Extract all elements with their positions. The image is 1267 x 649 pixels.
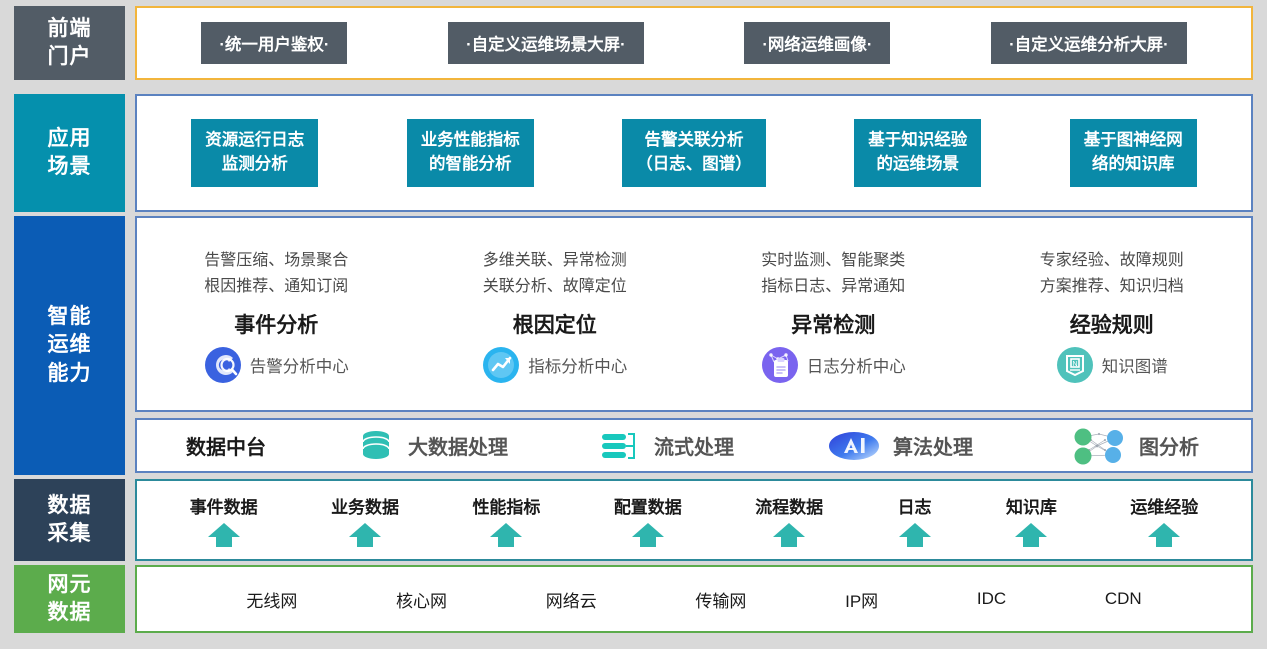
side-label-intelligent-ops: 智能 运维 能力 — [14, 216, 125, 475]
front-portal-panel: ·统一用户鉴权· ·自定义运维场景大屏· ·网络运维画像· ·自定义运维分析大屏… — [135, 6, 1253, 80]
capability-bullet: 关联分析、故障定位 — [483, 274, 627, 300]
data-midplatform-panel: 数据中台 大数据处理 — [135, 418, 1253, 473]
side-label-line: 采集 — [48, 520, 92, 548]
application-chip-line: 的运维场景 — [868, 153, 967, 177]
knowledge-doc-icon: N — [1056, 346, 1094, 384]
up-arrow-icon — [1146, 522, 1182, 548]
collection-item[interactable]: 流程数据 — [755, 493, 823, 548]
application-chip-line: （日志、图谱） — [636, 153, 752, 177]
data-midplatform-label: 图分析 — [1139, 431, 1199, 460]
analysis-center-label: 日志分析中心 — [807, 353, 906, 377]
portal-chip[interactable]: ·自定义运维场景大屏· — [448, 22, 644, 64]
application-chip-line: 基于知识经验 — [868, 129, 967, 153]
collection-label: 日志 — [898, 493, 932, 518]
network-element-item[interactable]: IDC — [977, 589, 1006, 609]
row-front-portal: 前端 门户 ·统一用户鉴权· ·自定义运维场景大屏· ·网络运维画像· ·自定义… — [14, 6, 1253, 80]
application-chip[interactable]: 基于图神经网 络的知识库 — [1070, 119, 1197, 187]
intelligent-ops-stack: 告警压缩、场景聚合 根因推荐、通知订阅 事件分析 — [135, 216, 1253, 475]
application-chip-line: 基于图神经网 — [1084, 129, 1183, 153]
capability-title: 事件分析 — [234, 309, 318, 339]
capability-column-root-cause: 多维关联、异常检测 关联分析、故障定位 根因定位 — [416, 218, 695, 410]
application-chip-line: 络的知识库 — [1084, 153, 1183, 177]
side-label-application-scenarios: 应用 场景 — [14, 94, 125, 212]
capability-bullet: 专家经验、故障规则 — [1040, 248, 1184, 274]
side-label-front-portal: 前端 门户 — [14, 6, 125, 80]
up-arrow-icon — [771, 522, 807, 548]
side-label-line: 运维 — [48, 331, 92, 359]
portal-chip[interactable]: ·网络运维画像· — [744, 22, 890, 64]
data-midplatform-label: 流式处理 — [654, 431, 734, 460]
collection-item[interactable]: 知识库 — [1006, 493, 1057, 548]
analysis-center-link[interactable]: N 知识图谱 — [1056, 346, 1168, 384]
collection-label: 业务数据 — [331, 493, 399, 518]
portal-chip[interactable]: ·自定义运维分析大屏· — [991, 22, 1187, 64]
data-midplatform-label: 大数据处理 — [408, 431, 508, 460]
capability-title: 根因定位 — [513, 309, 597, 339]
side-label-line: 能力 — [48, 360, 92, 388]
up-arrow-icon — [897, 522, 933, 548]
analysis-center-link[interactable]: 告警分析中心 — [204, 346, 349, 384]
application-scenarios-panel: 资源运行日志 监测分析 业务性能指标 的智能分析 告警关联分析 （日志、图谱） … — [135, 94, 1253, 212]
collection-item[interactable]: 配置数据 — [614, 493, 682, 548]
capability-bullet: 告警压缩、场景聚合 — [204, 248, 348, 274]
application-chip[interactable]: 基于知识经验 的运维场景 — [854, 119, 981, 187]
network-element-item[interactable]: CDN — [1105, 589, 1142, 609]
application-chip-line: 监测分析 — [205, 153, 304, 177]
collection-label: 知识库 — [1006, 493, 1057, 518]
log-clipboard-icon — [761, 346, 799, 384]
network-element-item[interactable]: 无线网 — [246, 587, 297, 612]
data-midplatform-item-stream[interactable]: 流式处理 — [549, 429, 783, 463]
analysis-center-link[interactable]: 日志分析中心 — [761, 346, 906, 384]
collection-label: 性能指标 — [472, 493, 540, 518]
alert-search-icon — [204, 346, 242, 384]
capability-panel: 告警压缩、场景聚合 根因推荐、通知订阅 事件分析 — [135, 216, 1253, 412]
stream-stack-icon — [598, 429, 642, 463]
network-element-item[interactable]: 网络云 — [546, 587, 597, 612]
side-label-network-element: 网元 数据 — [14, 565, 125, 633]
up-arrow-icon — [347, 522, 383, 548]
network-element-item[interactable]: 传输网 — [695, 587, 746, 612]
analysis-center-label: 知识图谱 — [1102, 353, 1168, 377]
row-application-scenarios: 应用 场景 资源运行日志 监测分析 业务性能指标 的智能分析 告警关联分析 （日… — [14, 94, 1253, 212]
collection-label: 配置数据 — [614, 493, 682, 518]
capability-title: 异常检测 — [791, 309, 875, 339]
application-chip-line: 业务性能指标 — [421, 129, 520, 153]
architecture-diagram: 前端 门户 ·统一用户鉴权· ·自定义运维场景大屏· ·网络运维画像· ·自定义… — [0, 0, 1267, 649]
metric-trend-icon — [482, 346, 520, 384]
up-arrow-icon — [488, 522, 524, 548]
analysis-center-label: 告警分析中心 — [250, 353, 349, 377]
application-chip-line: 告警关联分析 — [636, 129, 752, 153]
capability-column-experience-rules: 专家经验、故障规则 方案推荐、知识归档 经验规则 N — [973, 218, 1252, 410]
data-collection-panel: 事件数据 业务数据 性能指标 配置数据 流程数据 日志 — [135, 479, 1253, 561]
up-arrow-icon — [630, 522, 666, 548]
svg-text:N: N — [1072, 360, 1077, 367]
capability-bullet: 指标日志、异常通知 — [761, 274, 905, 300]
side-label-line: 门户 — [48, 43, 92, 71]
capability-column-anomaly-detection: 实时监测、智能聚类 指标日志、异常通知 异常检测 — [694, 218, 973, 410]
network-element-item[interactable]: IP网 — [845, 587, 878, 612]
collection-item[interactable]: 性能指标 — [472, 493, 540, 548]
up-arrow-icon — [206, 522, 242, 548]
side-label-line: 应用 — [48, 125, 92, 153]
side-label-line: 网元 — [48, 571, 92, 599]
analysis-center-link[interactable]: 指标分析中心 — [482, 346, 627, 384]
analysis-center-label: 指标分析中心 — [528, 353, 627, 377]
side-label-data-collection: 数据 采集 — [14, 479, 125, 561]
capability-bullet: 实时监测、智能聚类 — [761, 248, 905, 274]
collection-item[interactable]: 业务数据 — [331, 493, 399, 548]
collection-label: 运维经验 — [1130, 493, 1198, 518]
row-data-collection: 数据 采集 事件数据 业务数据 性能指标 配置数据 流程数据 — [14, 479, 1253, 561]
side-label-line: 前端 — [48, 15, 92, 43]
database-icon — [356, 429, 396, 463]
data-midplatform-label: 算法处理 — [893, 431, 973, 460]
up-arrow-icon — [1013, 522, 1049, 548]
side-label-line: 数据 — [48, 492, 92, 520]
application-chip-line: 资源运行日志 — [205, 129, 304, 153]
side-label-line: 智能 — [48, 303, 92, 331]
application-chip[interactable]: 业务性能指标 的智能分析 — [407, 119, 534, 187]
capability-bullet: 方案推荐、知识归档 — [1040, 274, 1184, 300]
portal-chip[interactable]: ·统一用户鉴权· — [201, 22, 347, 64]
graph-network-icon — [1069, 426, 1127, 466]
capability-bullet: 根因推荐、通知订阅 — [204, 274, 348, 300]
application-chip[interactable]: 资源运行日志 监测分析 — [191, 119, 318, 187]
capability-bullets: 实时监测、智能聚类 指标日志、异常通知 — [761, 248, 905, 299]
application-chip-line: 的智能分析 — [421, 153, 520, 177]
collection-item[interactable]: 运维经验 — [1130, 493, 1198, 548]
collection-label: 事件数据 — [190, 493, 258, 518]
capability-bullets: 专家经验、故障规则 方案推荐、知识归档 — [1040, 248, 1184, 299]
side-label-line: 场景 — [48, 153, 92, 181]
capability-bullet: 多维关联、异常检测 — [483, 248, 627, 274]
data-midplatform-item-algorithm[interactable]: 算法处理 — [783, 429, 1017, 463]
collection-label: 流程数据 — [755, 493, 823, 518]
data-midplatform-item-graph[interactable]: 图分析 — [1017, 426, 1251, 466]
capability-title: 经验规则 — [1070, 309, 1154, 339]
capability-column-event-analysis: 告警压缩、场景聚合 根因推荐、通知订阅 事件分析 — [137, 218, 416, 410]
capability-bullets: 告警压缩、场景聚合 根因推荐、通知订阅 — [204, 248, 348, 299]
collection-item[interactable]: 事件数据 — [190, 493, 258, 548]
data-midplatform-item-bigdata[interactable]: 大数据处理 — [315, 429, 549, 463]
row-intelligent-ops-capability: 智能 运维 能力 告警压缩、场景聚合 根因推荐、通知订阅 事件分析 — [14, 216, 1253, 475]
ai-icon — [827, 429, 881, 463]
data-midplatform-title: 数据中台 — [137, 431, 315, 460]
network-element-panel: 无线网 核心网 网络云 传输网 IP网 IDC CDN — [135, 565, 1253, 633]
capability-bullets: 多维关联、异常检测 关联分析、故障定位 — [483, 248, 627, 299]
side-label-line: 数据 — [48, 599, 92, 627]
row-network-element-data: 网元 数据 无线网 核心网 网络云 传输网 IP网 IDC CDN — [14, 565, 1253, 633]
collection-item[interactable]: 日志 — [897, 493, 933, 548]
application-chip[interactable]: 告警关联分析 （日志、图谱） — [622, 119, 766, 187]
network-element-item[interactable]: 核心网 — [396, 587, 447, 612]
